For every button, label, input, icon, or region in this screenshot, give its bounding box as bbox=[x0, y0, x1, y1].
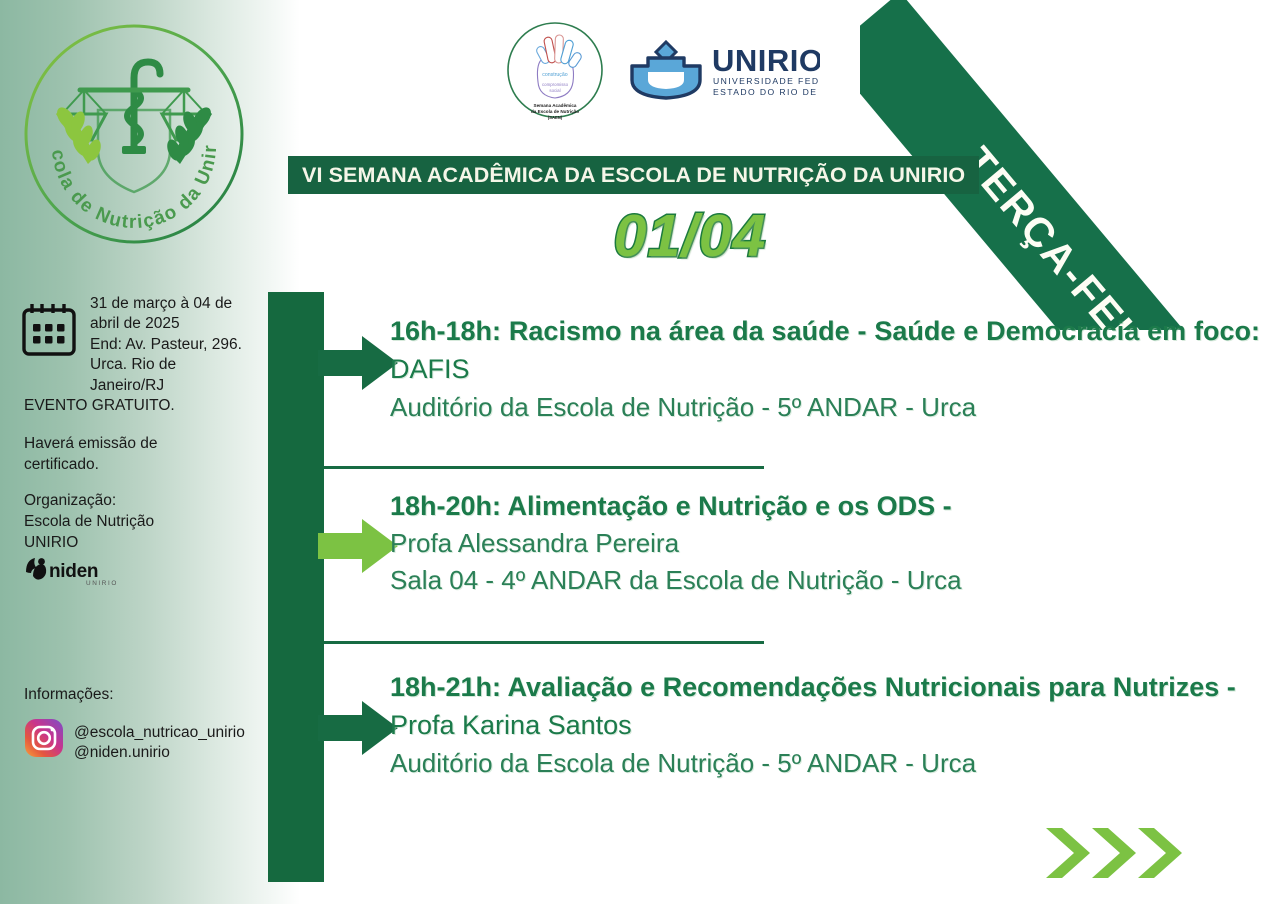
event-address-line-2: Urca. Rio de Janeiro/RJ bbox=[90, 355, 250, 396]
free-event-text: EVENTO GRATUITO. bbox=[24, 396, 224, 417]
event-dates-block: 31 de março à 04 de abril de 2025 End: A… bbox=[90, 294, 250, 396]
session-title: 18h-20h: Alimentação e Nutrição e os ODS… bbox=[390, 487, 1260, 525]
session-separator bbox=[324, 641, 764, 644]
instagram-handle-1[interactable]: @escola_nutricao_unirio bbox=[74, 723, 245, 743]
niden-logo: niden UNIRIO bbox=[24, 554, 134, 588]
unirio-wordmark: UNIRIO bbox=[712, 43, 820, 78]
certificate-line-2: certificado. bbox=[24, 455, 224, 476]
session-item: 16h-18h: Racismo na área da saúde - Saúd… bbox=[390, 312, 1260, 426]
event-logo: construção compromisso social Semana Aca… bbox=[505, 20, 605, 124]
organization-label: Organização: bbox=[24, 491, 224, 512]
organization-line-2: UNIRIO bbox=[24, 533, 224, 554]
poster-date: 01/04 bbox=[470, 202, 910, 270]
certificate-note: Haverá emissão de certificado. bbox=[24, 434, 224, 476]
unirio-u-monogram bbox=[632, 42, 700, 98]
session-title-text: 18h-21h: Avaliação e Recomendações Nutri… bbox=[390, 672, 1236, 702]
session-speaker: Profa Alessandra Pereira bbox=[390, 525, 1260, 562]
event-date-line-1: 31 de março à 04 de bbox=[90, 294, 250, 314]
weekday-ribbon-label: TERÇA-FEIRA bbox=[955, 138, 1184, 330]
organization-line-1: Escola de Nutrição bbox=[24, 512, 224, 533]
session-title-text: 16h-18h: Racismo na área da saúde - Saúd… bbox=[390, 316, 1260, 346]
unirio-logo: UNIRIO UNIVERSIDADE FEDERAL DO ESTADO DO… bbox=[622, 36, 820, 102]
instagram-icon[interactable] bbox=[24, 718, 64, 758]
instagram-handle-2[interactable]: @niden.unirio bbox=[74, 743, 245, 763]
session-item: 18h-21h: Avaliação e Recomendações Nutri… bbox=[390, 668, 1260, 782]
calendar-icon bbox=[20, 302, 78, 356]
session-title: 18h-21h: Avaliação e Recomendações Nutri… bbox=[390, 668, 1260, 745]
event-logo-caption-1: Semana Acadêmica bbox=[534, 103, 577, 108]
contact-label: Informações: bbox=[24, 686, 114, 704]
session-speaker: Profa Karina Santos bbox=[390, 710, 632, 740]
social-handles: @escola_nutricao_unirio @niden.unirio bbox=[74, 723, 245, 763]
session-speaker: DAFIS bbox=[390, 354, 470, 384]
unirio-subtitle-1: UNIVERSIDADE FEDERAL DO bbox=[713, 76, 820, 86]
event-logo-palm-word-3: social bbox=[549, 88, 560, 93]
poster-title: VI SEMANA ACADÊMICA DA ESCOLA DE NUTRIÇÃ… bbox=[302, 163, 965, 188]
organization-note: Organização: Escola de Nutrição UNIRIO bbox=[24, 491, 224, 554]
event-logo-caption-2: da Escola de Nutrição bbox=[531, 109, 579, 114]
free-event-note: EVENTO GRATUITO. bbox=[24, 396, 224, 417]
timeline-bar bbox=[268, 292, 324, 882]
session-item: 18h-20h: Alimentação e Nutrição e os ODS… bbox=[390, 487, 1260, 599]
arrow-right-icon bbox=[318, 515, 398, 577]
niden-leaf-icon bbox=[26, 558, 46, 580]
event-date-line-2: abril de 2025 bbox=[90, 314, 250, 334]
event-address-line-1: End: Av. Pasteur, 296. bbox=[90, 335, 250, 355]
certificate-line-1: Haverá emissão de bbox=[24, 434, 224, 455]
unirio-subtitle-2: ESTADO DO RIO DE JANEIRO bbox=[713, 87, 820, 97]
session-place: Sala 04 - 4º ANDAR da Escola de Nutrição… bbox=[390, 562, 1260, 599]
event-logo-palm-word-2: compromisso bbox=[542, 82, 569, 87]
niden-wordmark: niden bbox=[49, 561, 98, 582]
school-logo: Escola de Nutrição da Unirio bbox=[18, 18, 250, 250]
event-logo-palm-word-1: construção bbox=[542, 72, 567, 78]
event-poster: Escola de Nutrição da Unirio construção … bbox=[0, 0, 1280, 904]
session-place: Auditório da Escola de Nutrição - 5º AND… bbox=[390, 389, 1260, 426]
arrow-right-icon bbox=[318, 332, 398, 394]
triple-chevron-right-icon bbox=[1044, 822, 1192, 884]
event-logo-caption-3: (SAEN) bbox=[548, 115, 563, 120]
session-title: 16h-18h: Racismo na área da saúde - Saúd… bbox=[390, 312, 1260, 389]
session-separator bbox=[324, 466, 764, 469]
poster-title-banner: VI SEMANA ACADÊMICA DA ESCOLA DE NUTRIÇÃ… bbox=[288, 156, 979, 194]
niden-sub: UNIRIO bbox=[86, 580, 118, 587]
arrow-right-icon bbox=[318, 697, 398, 759]
session-place: Auditório da Escola de Nutrição - 5º AND… bbox=[390, 745, 1260, 782]
